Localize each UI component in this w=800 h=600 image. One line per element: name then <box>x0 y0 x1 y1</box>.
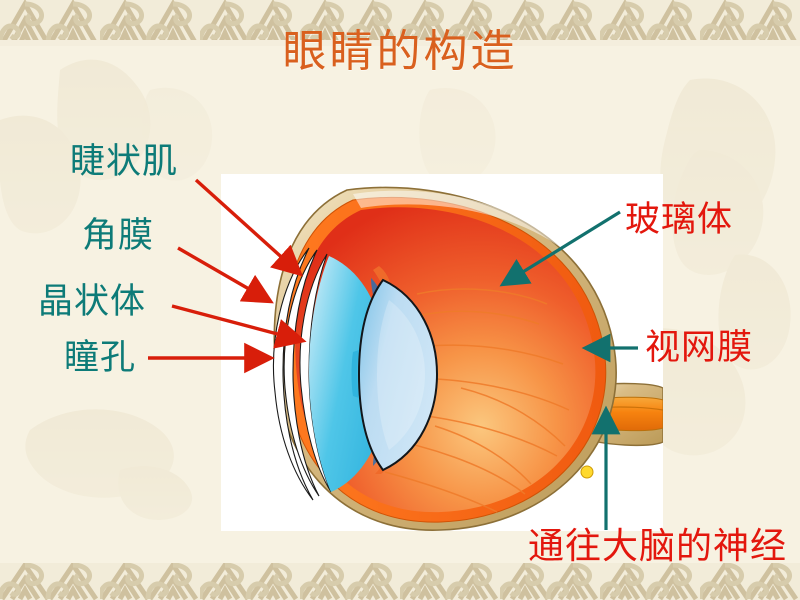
bottom-border-ornament <box>0 563 800 600</box>
label-pupil: 瞳孔 <box>64 338 136 378</box>
label-vitreous-body: 玻璃体 <box>625 200 733 240</box>
label-lens: 晶状体 <box>38 282 146 322</box>
eye-diagram-panel <box>221 174 663 531</box>
slide-canvas: 眼睛的构造 <box>0 0 800 600</box>
label-optic-nerve: 通往大脑的神经 <box>528 527 787 567</box>
macula-dot <box>581 466 593 478</box>
page-title: 眼睛的构造 <box>0 26 800 78</box>
label-retina: 视网膜 <box>645 328 753 368</box>
label-ciliary-muscle: 睫状肌 <box>70 142 178 182</box>
label-cornea: 角膜 <box>82 216 154 256</box>
eye-cross-section-illustration <box>221 174 663 531</box>
